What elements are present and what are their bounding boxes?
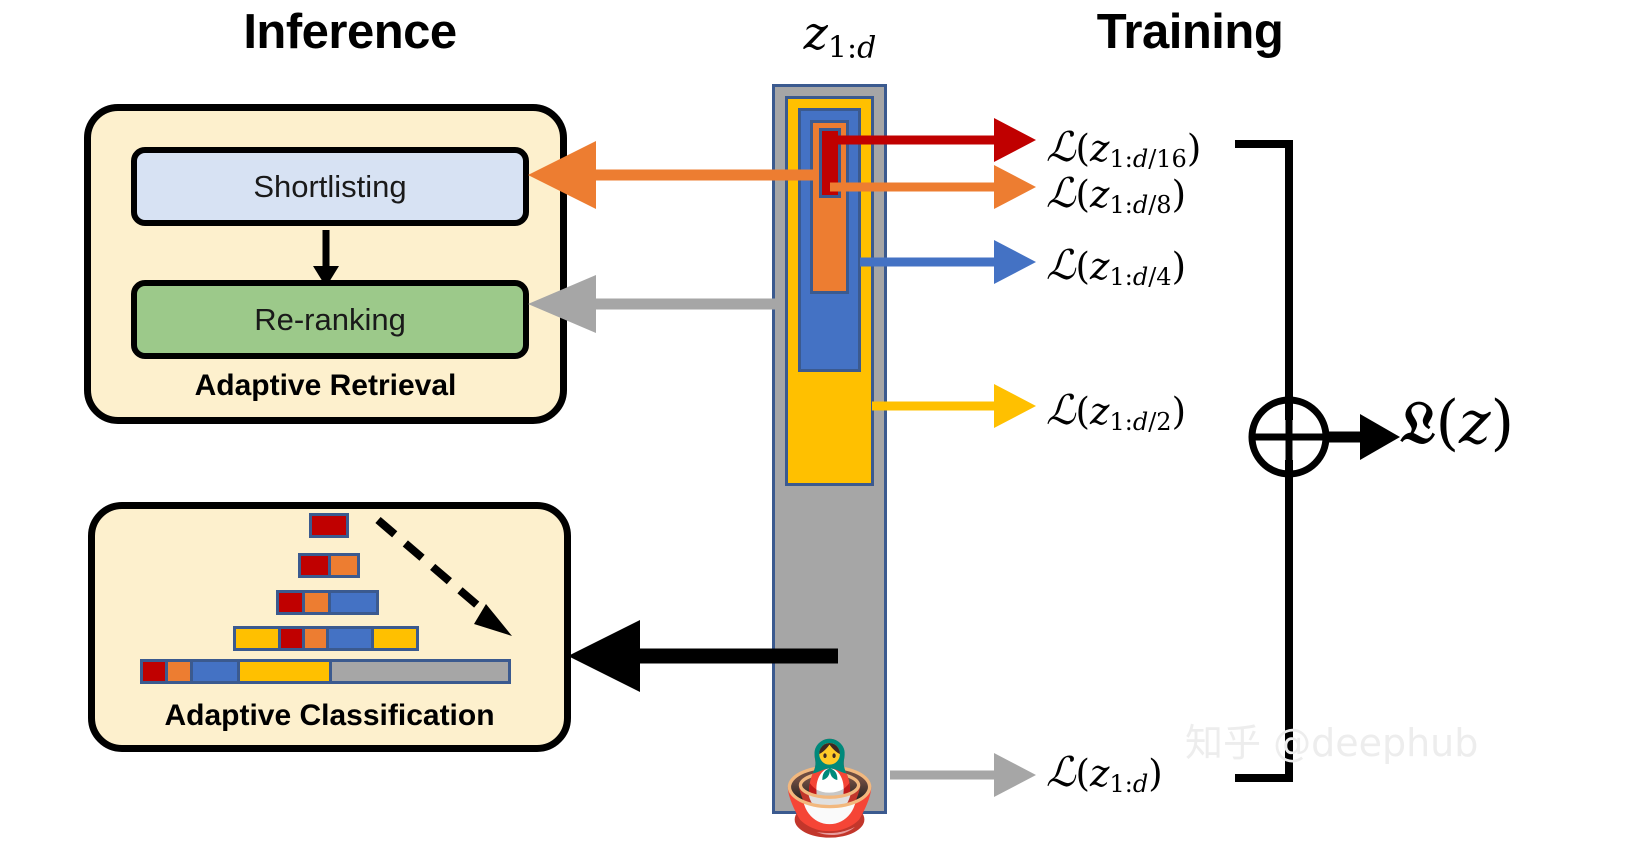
bar-d-over-8-segment-1 [328, 556, 358, 575]
bar-d-over-4 [276, 590, 379, 615]
loss-open-paren: ( [1076, 245, 1090, 288]
embedding-vector-subscript: 1:d [828, 30, 876, 65]
aggregation-plus-icon [1252, 400, 1326, 474]
loss-close-paren: ) [1187, 127, 1201, 170]
loss-label-d8: ℒ(z1:d/8) [1046, 169, 1186, 219]
loss-label-d: ℒ(z1:d) [1046, 748, 1163, 798]
bar-d-over-2-segment-3 [326, 629, 371, 648]
bar-d-over-2-segment-2 [302, 629, 326, 648]
loss-z: z [1090, 390, 1110, 433]
adaptive-classification-caption: Adaptive Classification [95, 699, 564, 733]
nest-level-d16 [819, 128, 841, 198]
total-loss-fraktur-l: 𝔏 [1400, 388, 1436, 458]
loss-open-paren: ( [1076, 390, 1090, 433]
loss-script-l: ℒ [1046, 241, 1076, 289]
loss-aggregation-bracket [1235, 144, 1293, 778]
loss-script-l: ℒ [1046, 123, 1076, 171]
total-loss-label: 𝔏(z) [1400, 388, 1514, 458]
bar-d-over-2-segment-0 [236, 629, 278, 648]
loss-close-paren: ) [1172, 245, 1186, 288]
loss-label-d16: ℒ(z1:d/16) [1046, 123, 1201, 173]
loss-script-l: ℒ [1046, 748, 1076, 796]
total-loss-arrow [1326, 414, 1400, 460]
bar-d-over-16-segment-0 [312, 516, 346, 535]
matryoshka-doll-icon: 🪆 [772, 744, 887, 834]
bar-d-over-8 [298, 553, 360, 578]
loss-arrow-d [890, 753, 1036, 797]
reranking-box[interactable]: Re-ranking [131, 280, 529, 359]
loss-open-paren: ( [1076, 127, 1090, 170]
loss-arrow-d2 [872, 384, 1036, 428]
reranking-label: Re-ranking [254, 302, 406, 338]
loss-label-d2: ℒ(z1:d/2) [1046, 386, 1186, 436]
loss-open-paren: ( [1076, 173, 1090, 216]
loss-close-paren: ) [1172, 173, 1186, 216]
bar-d-segment-2 [190, 662, 237, 681]
bar-d-segment-0 [143, 662, 165, 681]
adaptive-retrieval-caption: Adaptive Retrieval [91, 369, 560, 403]
training-heading: Training [1040, 4, 1340, 60]
loss-open-paren: ( [1076, 752, 1090, 795]
loss-z: z [1090, 245, 1110, 288]
inference-heading: Inference [150, 4, 550, 60]
bar-d-segment-1 [165, 662, 190, 681]
loss-subscript: 1:d/2 [1109, 408, 1171, 436]
loss-close-paren: ) [1148, 752, 1162, 795]
shortlisting-label: Shortlisting [253, 169, 406, 205]
shortlisting-box[interactable]: Shortlisting [131, 147, 529, 226]
total-loss-z: z [1459, 388, 1491, 458]
bar-d-over-4-segment-0 [279, 593, 302, 612]
bar-d-over-4-segment-1 [302, 593, 328, 612]
bar-d-over-2-segment-1 [278, 629, 302, 648]
loss-z: z [1090, 127, 1110, 170]
loss-z: z [1090, 173, 1110, 216]
loss-script-l: ℒ [1046, 169, 1076, 217]
loss-label-d4: ℒ(z1:d/4) [1046, 241, 1186, 291]
embedding-vector-label: z1:d [760, 6, 920, 65]
loss-subscript: 1:d [1109, 770, 1148, 798]
loss-z: z [1090, 752, 1110, 795]
embedding-vector-symbol: z [804, 6, 828, 60]
bar-d-over-16 [309, 513, 349, 538]
total-loss-open-paren: ( [1436, 388, 1459, 458]
bar-d [140, 659, 511, 684]
adaptive-retrieval-panel: Shortlisting Re-ranking Adaptive Retriev… [84, 104, 567, 424]
total-loss-close-paren: ) [1491, 388, 1514, 458]
bar-d-segment-3 [237, 662, 328, 681]
loss-subscript: 1:d/8 [1109, 191, 1171, 219]
loss-close-paren: ) [1172, 390, 1186, 433]
watermark: 知乎 @deephub [1185, 712, 1478, 767]
bar-d-segment-4 [329, 662, 509, 681]
bar-d-over-8-segment-0 [301, 556, 328, 575]
nested-embedding-column: 🪆 [772, 84, 887, 814]
bar-d-over-4-segment-2 [328, 593, 377, 612]
granularity-dashed-arrow [370, 512, 530, 652]
loss-script-l: ℒ [1046, 386, 1076, 434]
loss-subscript: 1:d/4 [1109, 263, 1171, 291]
